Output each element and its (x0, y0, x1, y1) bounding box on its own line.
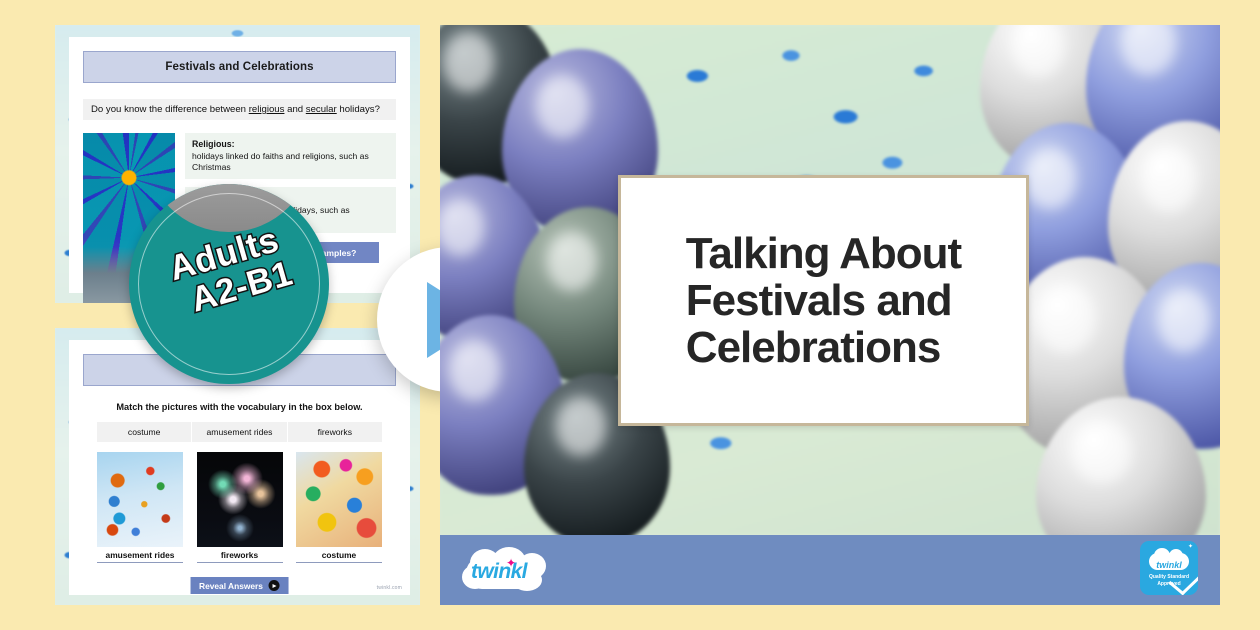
reveal-answers-button[interactable]: Reveal Answers (190, 577, 289, 594)
word-bank-item-3[interactable]: fireworks (288, 422, 382, 442)
amusement-ride-image (97, 452, 183, 547)
badge-brand-text: twinkl (1149, 560, 1189, 570)
twinkl-logo: ✦ twinkl (460, 547, 556, 593)
picture-cell-3[interactable]: costume (296, 452, 382, 563)
badge-line-1: Quality Standard (1149, 574, 1189, 581)
badge-cloud-icon: twinkl (1149, 553, 1189, 570)
picture-answer-2: fireworks (197, 550, 283, 563)
picture-answer-1: amusement rides (97, 550, 183, 563)
main-title-line-2: Festivals and (686, 276, 952, 325)
picture-cell-2[interactable]: fireworks (197, 452, 283, 563)
sparkle-icon: ✦ (1188, 543, 1193, 550)
reveal-answers-label: Reveal Answers (199, 581, 263, 591)
badge-line-2: Approved (1149, 581, 1189, 588)
vocabulary-word-bank: costume amusement rides fireworks (97, 422, 382, 442)
picture-cell-1[interactable]: amusement rides (97, 452, 183, 563)
main-slide-preview[interactable]: Talking About Festivals and Celebrations… (440, 25, 1220, 605)
fireworks-image (197, 452, 283, 547)
question-suffix: holidays? (337, 104, 380, 115)
slide-1-title: Festivals and Celebrations (165, 61, 313, 73)
star-icon: ✦ (506, 557, 516, 569)
slide-1-title-bar: Festivals and Celebrations (83, 51, 396, 83)
word-bank-item-1[interactable]: costume (97, 422, 192, 442)
carnival-costume-image (296, 452, 382, 547)
slideshow-preview-canvas: Festivals and Celebrations Do you know t… (0, 0, 1260, 630)
question-keyword-religious: religious (249, 104, 285, 115)
quality-standard-approved-badge: ✦ twinkl Quality Standard Approved (1140, 541, 1198, 595)
definition-religious: Religious: holidays linked do faiths and… (185, 133, 396, 179)
definition-religious-text: holidays linked do faiths and religions,… (192, 151, 369, 173)
definition-religious-term: Religious: (192, 139, 235, 149)
main-title-line-1: Talking About (686, 229, 961, 278)
play-circle-icon (269, 580, 280, 591)
twinkl-watermark: twinkl.com (377, 585, 402, 591)
sticker-disc: Adults A2-B1 (129, 184, 329, 384)
main-title-line-3: Celebrations (686, 323, 941, 372)
slide-footer-bar: ✦ twinkl ✦ twinkl Quality Standard Appro… (440, 535, 1220, 605)
question-middle: and (284, 104, 305, 115)
picture-answer-3: costume (296, 550, 382, 563)
main-title: Talking About Festivals and Celebrations (672, 230, 975, 371)
slide-2-instruction: Match the pictures with the vocabulary i… (69, 402, 410, 412)
word-bank-item-2[interactable]: amusement rides (192, 422, 287, 442)
age-level-sticker: Adults A2-B1 (129, 184, 329, 384)
main-title-card: Talking About Festivals and Celebrations (618, 175, 1029, 426)
question-prefix: Do you know the difference between (91, 104, 249, 115)
picture-row: amusement rides fireworks costume (97, 452, 382, 563)
question-keyword-secular: secular (306, 104, 337, 115)
slide-1-question-bar: Do you know the difference between relig… (83, 99, 396, 120)
